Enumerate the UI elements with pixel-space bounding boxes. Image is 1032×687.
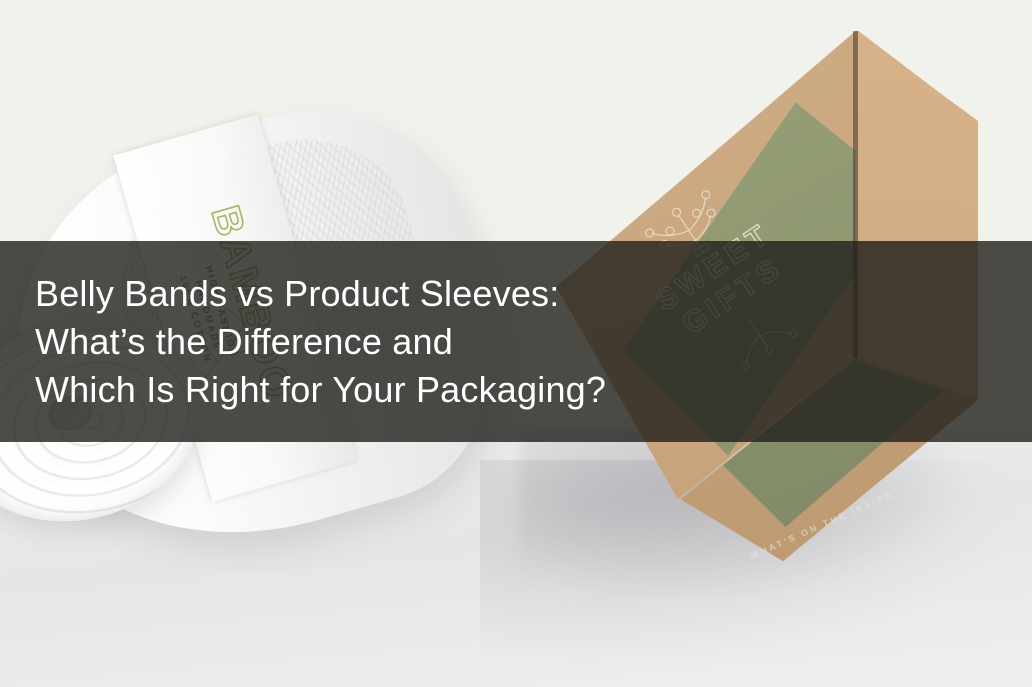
hero-banner: BAMBOO HIGH FASHION HANDMADE 100% COTTON (0, 0, 1032, 687)
headline-overlay: Belly Bands vs Product Sleeves: What’s t… (0, 241, 1032, 442)
page-title: Belly Bands vs Product Sleeves: What’s t… (0, 270, 606, 414)
